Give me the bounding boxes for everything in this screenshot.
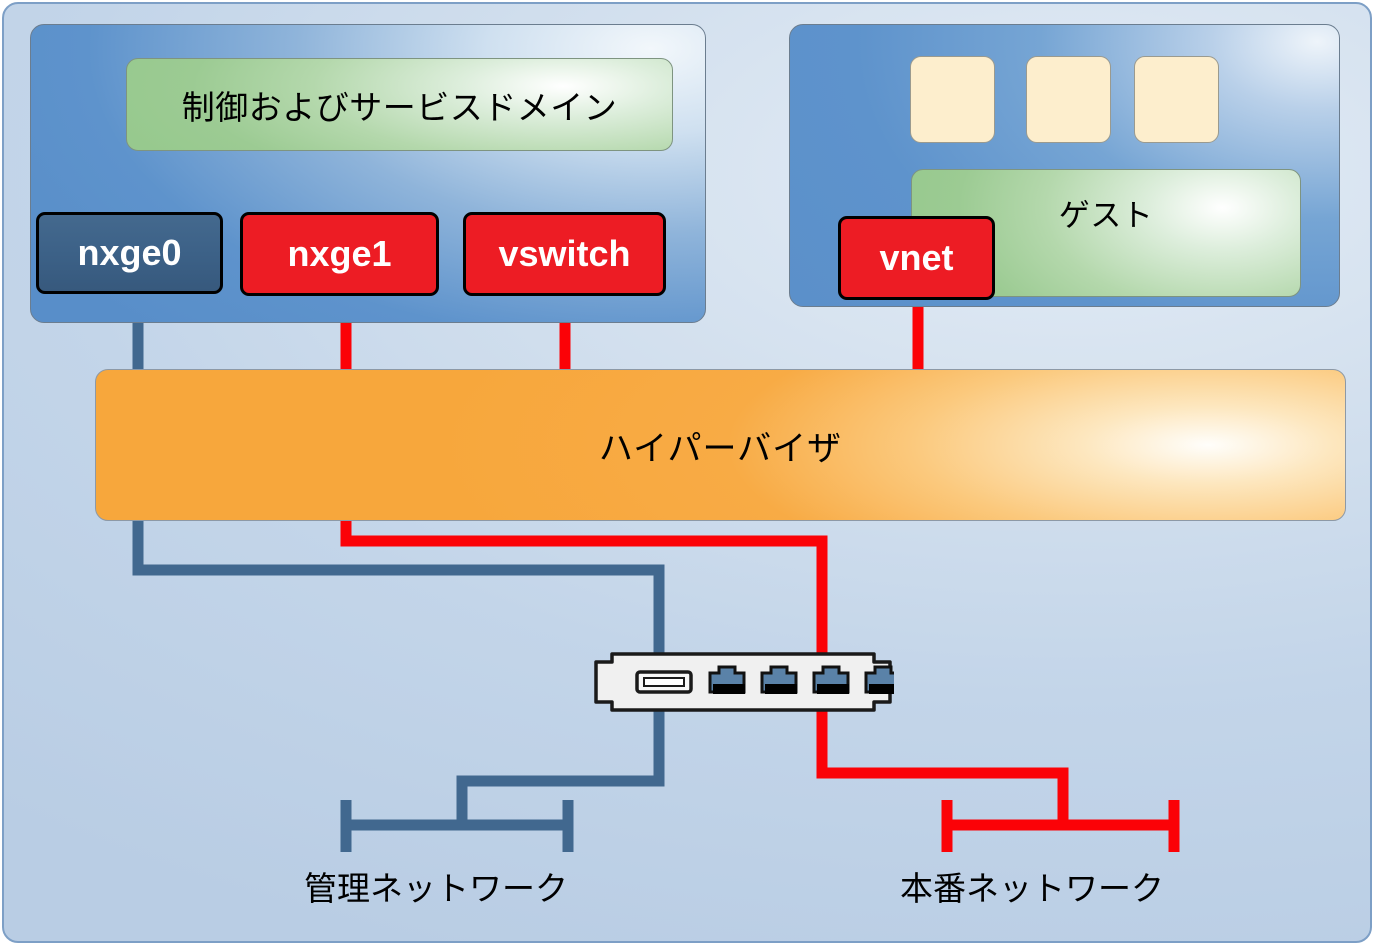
node-vnet-label: vnet <box>879 237 953 279</box>
management-network-label: 管理ネットワーク <box>304 862 568 910</box>
hypervisor-bar: ハイパーバイザ <box>95 369 1346 521</box>
control-service-domain-label: 制御およびサービスドメイン <box>182 81 618 129</box>
node-vswitch[interactable]: vswitch <box>463 212 666 296</box>
guest-app-block-1 <box>910 56 995 143</box>
diagram-canvas: 制御およびサービスドメイン nxge0 nxge1 vswitch ゲスト vn… <box>0 0 1378 947</box>
node-nxge1-label: nxge1 <box>287 233 391 275</box>
production-network-label: 本番ネットワーク <box>900 862 1164 910</box>
guest-domain-label: ゲスト <box>1059 190 1154 235</box>
hypervisor-label: ハイパーバイザ <box>599 421 842 470</box>
node-vswitch-label: vswitch <box>498 233 630 275</box>
guest-app-block-2 <box>1026 56 1111 143</box>
control-service-domain-label-box: 制御およびサービスドメイン <box>126 58 673 151</box>
node-nxge0[interactable]: nxge0 <box>36 212 223 294</box>
node-nxge1[interactable]: nxge1 <box>240 212 439 296</box>
guest-app-block-3 <box>1134 56 1219 143</box>
node-nxge0-label: nxge0 <box>77 232 181 274</box>
node-vnet[interactable]: vnet <box>838 216 995 300</box>
switch-console-port <box>637 672 691 692</box>
network-switch-icon[interactable] <box>592 650 894 714</box>
